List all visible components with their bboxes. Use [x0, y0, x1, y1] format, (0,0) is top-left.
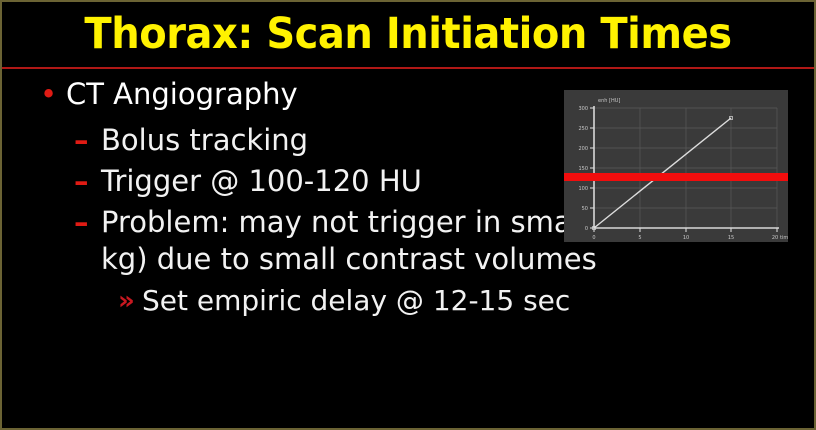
- enhancement-curve-chart: enh [HU] 300 250 200 150 100 50 0 0 5 10…: [564, 90, 788, 242]
- page-title: Thorax: Scan Initiation Times: [55, 6, 762, 62]
- bullet-label: Bolus tracking: [101, 123, 308, 157]
- bullet-dot-icon: •: [40, 74, 57, 114]
- svg-text:0: 0: [592, 235, 595, 241]
- svg-text:15: 15: [728, 235, 734, 241]
- chart-svg: enh [HU] 300 250 200 150 100 50 0 0 5 10…: [564, 90, 788, 242]
- dash-marker-icon: –: [74, 163, 89, 200]
- presentation-slide: Thorax: Scan Initiation Times • CT Angio…: [0, 0, 816, 430]
- chart-xlabel: time [s]: [780, 235, 788, 241]
- svg-text:100: 100: [578, 186, 588, 192]
- bullet-set-empiric-delay: » Set empiric delay @ 12-15 sec: [118, 282, 814, 320]
- svg-text:5: 5: [638, 235, 641, 241]
- dash-marker-icon: –: [74, 204, 89, 241]
- svg-text:200: 200: [578, 146, 588, 152]
- bullet-label: CT Angiography: [66, 77, 298, 111]
- double-chevron-icon: »: [118, 282, 135, 320]
- svg-text:10: 10: [683, 235, 689, 241]
- svg-text:20: 20: [772, 235, 778, 241]
- bullet-label: Set empiric delay @ 12-15 sec: [142, 284, 570, 317]
- trigger-threshold-line: [564, 173, 788, 181]
- svg-text:0: 0: [585, 226, 588, 232]
- dash-marker-icon: –: [74, 122, 89, 159]
- title-divider-rule: [2, 67, 814, 69]
- svg-text:250: 250: [578, 126, 588, 132]
- svg-text:150: 150: [578, 166, 588, 172]
- bullet-label: Trigger @ 100-120 HU: [101, 164, 422, 198]
- svg-text:50: 50: [582, 206, 588, 212]
- svg-text:300: 300: [578, 106, 588, 112]
- slide-title-bar: Thorax: Scan Initiation Times: [2, 2, 814, 66]
- chart-panel-background: [564, 90, 788, 242]
- chart-ylabel: enh [HU]: [598, 98, 620, 104]
